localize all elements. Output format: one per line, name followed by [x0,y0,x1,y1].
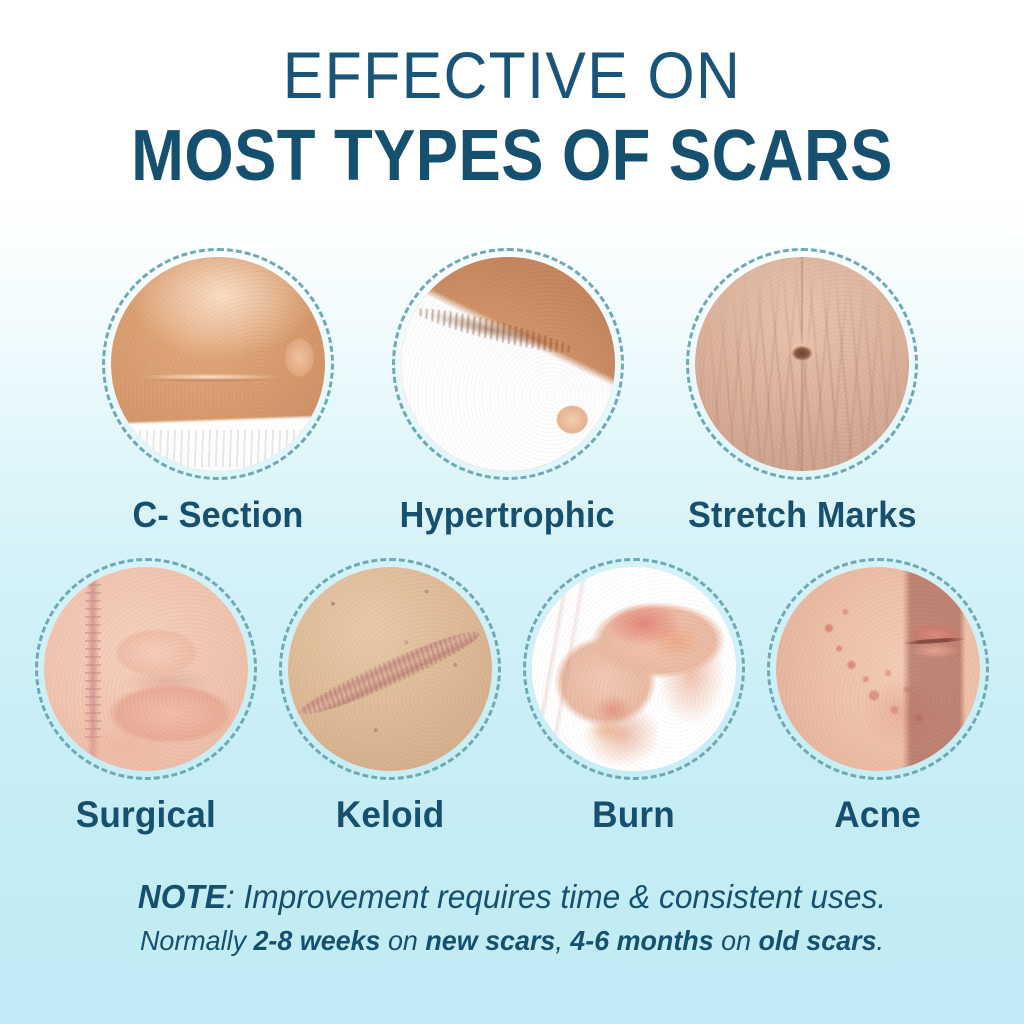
dashed-circle-frame [523,558,745,780]
poster-root: EFFECTIVE ON MOST TYPES OF SCARS C- Sect… [0,0,1024,1024]
scar-type-item-keloid: Keloid [279,558,501,836]
note2-prefix: Normally [140,925,254,956]
note2-duration-old: 4-6 months [570,925,713,956]
dashed-circle-frame [392,248,624,480]
scar-type-label: Surgical [76,794,216,836]
scar-type-item-c-section: C- Section [102,248,334,536]
stretch-marks-photo [695,257,909,471]
headline-line-2: MOST TYPES OF SCARS [61,120,962,192]
note-line-1: NOTE: Improvement requires time & consis… [20,878,1003,916]
scar-type-label: Burn [593,794,676,836]
hypertrophic-scar-photo [401,257,615,471]
scar-type-row-2: Surgical Keloid [0,558,1024,836]
dashed-circle-frame [35,558,257,780]
note2-mid-2: , [555,925,570,956]
c-section-scar-photo [111,257,325,471]
scar-type-row-1: C- Section Hypertrophic [0,248,1024,536]
note2-mid-3: on [714,925,759,956]
scar-type-item-hypertrophic: Hypertrophic [392,248,624,536]
note2-old-scars: old scars [759,925,877,956]
note2-duration-new: 2-8 weeks [253,925,380,956]
dashed-circle-frame [279,558,501,780]
headline-line-1: EFFECTIVE ON [41,42,983,108]
burn-scar-photo [532,567,736,771]
page-title: EFFECTIVE ON MOST TYPES OF SCARS [0,42,1024,192]
scar-type-item-burn: Burn [523,558,745,836]
dashed-circle-frame [686,248,918,480]
scar-type-label: C- Section [132,494,303,536]
dashed-circle-frame [767,558,989,780]
note-line-2: Normally 2-8 weeks on new scars, 4-6 mon… [20,925,1003,957]
scar-type-label: Keloid [336,794,445,836]
note2-suffix: . [877,925,884,956]
keloid-scar-photo [288,567,492,771]
dashed-circle-frame [102,248,334,480]
scar-type-item-stretch-marks: Stretch Marks [682,248,923,536]
scar-type-label: Stretch Marks [688,494,917,536]
scar-type-item-acne: Acne [767,558,989,836]
note-text: Improvement requires time & consistent u… [243,878,886,915]
scar-type-label: Hypertrophic [400,494,615,536]
note-label: NOTE [138,878,226,915]
note2-mid-1: on [381,925,426,956]
scar-type-label: Acne [835,794,922,836]
acne-scar-photo [776,567,980,771]
surgical-scar-photo [44,567,248,771]
scar-type-item-surgical: Surgical [35,558,257,836]
note2-new-scars: new scars [425,925,555,956]
note-colon: : [226,878,244,915]
